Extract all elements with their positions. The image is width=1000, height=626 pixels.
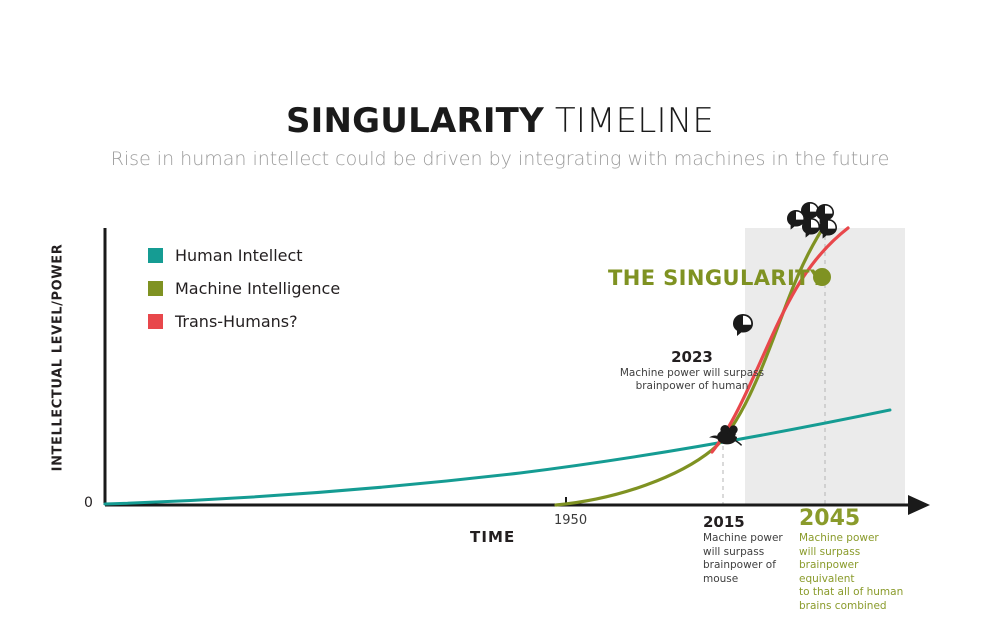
legend-swatch-human-intellect-icon	[148, 248, 163, 263]
y-axis-zero-label: 0	[84, 495, 93, 511]
annotation-2045-year: 2045	[799, 506, 911, 532]
annotation-2015-year: 2015	[703, 512, 789, 532]
x-tick-label-1950: 1950	[554, 513, 587, 528]
annotation-2023-line2: brainpower of human	[612, 380, 772, 393]
legend-item-trans-humans: Trans-Humans?	[148, 312, 340, 330]
x-axis-label: TIME	[470, 528, 515, 546]
annotation-2015-line4: mouse	[703, 573, 789, 587]
annotation-2023-line1: Machine power will surpass	[612, 367, 772, 380]
legend-swatch-machine-intelligence-icon	[148, 281, 163, 296]
legend-item-machine-intelligence: Machine Intelligence	[148, 279, 340, 297]
annotation-2015-line3: brainpower of	[703, 559, 789, 573]
legend-label-trans-humans: Trans-Humans?	[175, 312, 298, 331]
chart-legend: Human Intellect Machine Intelligence Tra…	[148, 246, 340, 345]
annotation-2045: 2045 Machine power will surpass brainpow…	[799, 506, 911, 613]
legend-item-human-intellect: Human Intellect	[148, 246, 340, 264]
legend-swatch-trans-humans-icon	[148, 314, 163, 329]
annotation-2023: 2023 Machine power will surpass brainpow…	[612, 348, 772, 393]
annotation-2045-line2: will surpass	[799, 546, 911, 560]
annotation-2045-line5: brains combined	[799, 600, 911, 614]
infographic-canvas: SINGULARITY TIMELINE Rise in human intel…	[0, 0, 1000, 626]
annotation-2045-line1: Machine power	[799, 532, 911, 546]
singularity-callout-label: THE SINGULARITY	[608, 266, 826, 290]
annotation-2023-year: 2023	[612, 348, 772, 367]
x-axis-arrow-icon	[908, 495, 930, 515]
mouse-icon	[708, 424, 742, 446]
human-head-icon	[733, 314, 755, 340]
human-heads-cluster-icon	[786, 198, 846, 246]
y-axis-label: INTELLECTUAL LEVEL/POWER	[51, 238, 66, 478]
annotation-2015: 2015 Machine power will surpass brainpow…	[703, 512, 789, 586]
annotation-2015-line1: Machine power	[703, 532, 789, 546]
annotation-2045-line4: to that all of human	[799, 586, 911, 600]
legend-label-human-intellect: Human Intellect	[175, 246, 303, 265]
annotation-2015-line2: will surpass	[703, 546, 789, 560]
legend-label-machine-intelligence: Machine Intelligence	[175, 279, 340, 298]
annotation-2045-line3: brainpower equivalent	[799, 559, 911, 586]
